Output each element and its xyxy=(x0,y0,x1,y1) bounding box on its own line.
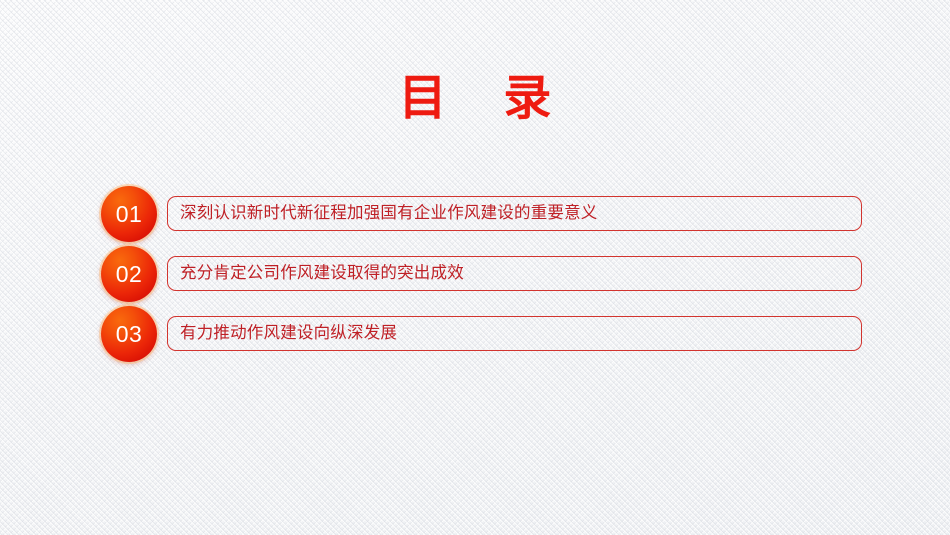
item-pill-01[interactable]: 深刻认识新时代新征程加强国有企业作风建设的重要意义 xyxy=(167,196,862,231)
item-label-01: 深刻认识新时代新征程加强国有企业作风建设的重要意义 xyxy=(180,197,851,230)
item-pill-02[interactable]: 充分肯定公司作风建设取得的突出成效 xyxy=(167,256,862,291)
item-number-badge-01: 01 xyxy=(101,186,157,242)
item-pill-03[interactable]: 有力推动作风建设向纵深发展 xyxy=(167,316,862,351)
item-label-03: 有力推动作风建设向纵深发展 xyxy=(180,317,851,350)
table-of-contents-list: 01 深刻认识新时代新征程加强国有企业作风建设的重要意义 02 充分肯定公司作风… xyxy=(0,186,950,366)
list-item[interactable]: 02 充分肯定公司作风建设取得的突出成效 xyxy=(0,246,950,301)
slide-canvas: 目 录 01 深刻认识新时代新征程加强国有企业作风建设的重要意义 02 充分肯定… xyxy=(0,0,950,535)
list-item[interactable]: 03 有力推动作风建设向纵深发展 xyxy=(0,306,950,361)
list-item[interactable]: 01 深刻认识新时代新征程加强国有企业作风建设的重要意义 xyxy=(0,186,950,241)
item-number-badge-03: 03 xyxy=(101,306,157,362)
item-label-02: 充分肯定公司作风建设取得的突出成效 xyxy=(180,257,851,290)
item-number-badge-02: 02 xyxy=(101,246,157,302)
page-title: 目 录 xyxy=(0,70,950,128)
